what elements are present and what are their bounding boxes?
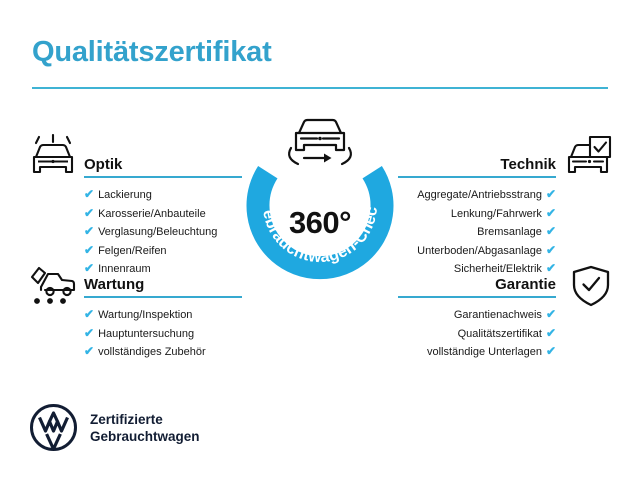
list-item: ✔Lackierung bbox=[84, 186, 217, 205]
list-item-label: Garantienachweis bbox=[454, 309, 542, 321]
list-item-label: Qualitätszertifikat bbox=[458, 328, 542, 340]
brand-text: Zertifizierte Gebrauchtwagen bbox=[90, 411, 200, 445]
shield-check-icon bbox=[568, 264, 614, 315]
section-technik-head: Technik bbox=[398, 148, 556, 174]
section-optik: Optik ✔Lackierung ✔Karosserie/Anbauteile… bbox=[84, 148, 242, 174]
check-icon: ✔ bbox=[546, 344, 556, 358]
check-icon: ✔ bbox=[546, 243, 556, 257]
section-optik-divider bbox=[84, 176, 242, 178]
list-item: Qualitätszertifikat✔ bbox=[427, 325, 556, 344]
list-item: Aggregate/Antriebsstrang✔ bbox=[417, 186, 556, 205]
list-item-label: Felgen/Reifen bbox=[98, 245, 167, 257]
list-item: ✔Verglasung/Beleuchtung bbox=[84, 223, 217, 242]
section-optik-title: Optik bbox=[84, 156, 122, 173]
car-shine-icon bbox=[28, 134, 78, 185]
section-garantie-title: Garantie bbox=[495, 276, 556, 293]
badge-360-gebrauchtwagen-check: Gebrauchtwagen-Check 360° bbox=[243, 128, 397, 282]
list-item: ✔Wartung/Inspektion bbox=[84, 306, 206, 325]
list-item: ✔Hauptuntersuchung bbox=[84, 325, 206, 344]
car-checkbox-icon bbox=[564, 134, 614, 185]
list-item-label: Verglasung/Beleuchtung bbox=[98, 226, 217, 238]
car-service-pen-icon bbox=[28, 264, 78, 315]
section-wartung-title: Wartung bbox=[84, 276, 144, 293]
check-icon: ✔ bbox=[546, 326, 556, 340]
section-garantie: Garantie Garantienachweis✔ Qualitätszert… bbox=[398, 268, 556, 294]
car-rotate-icon bbox=[277, 116, 363, 183]
check-icon: ✔ bbox=[84, 206, 94, 220]
volkswagen-logo bbox=[30, 404, 77, 451]
check-icon: ✔ bbox=[84, 326, 94, 340]
brand-line-1: Zertifizierte bbox=[90, 411, 200, 428]
badge-number: 360° bbox=[243, 207, 397, 238]
list-item-label: vollständiges Zubehör bbox=[98, 346, 206, 358]
list-item: ✔Karosserie/Anbauteile bbox=[84, 205, 217, 224]
list-item: Lenkung/Fahrwerk✔ bbox=[417, 205, 556, 224]
qualitaetszertifikat-page: Qualitätszertifikat Optik ✔Lackierung ✔K… bbox=[0, 0, 640, 480]
section-optik-head: Optik bbox=[84, 148, 242, 174]
check-icon: ✔ bbox=[84, 224, 94, 238]
section-technik-title: Technik bbox=[500, 156, 556, 173]
brand-lockup: Zertifizierte Gebrauchtwagen bbox=[30, 404, 200, 451]
section-optik-list: ✔Lackierung ✔Karosserie/Anbauteile ✔Verg… bbox=[84, 186, 217, 279]
section-technik: Technik Aggregate/Antriebsstrang✔ Lenkun… bbox=[398, 148, 556, 174]
check-icon: ✔ bbox=[546, 187, 556, 201]
check-icon: ✔ bbox=[84, 307, 94, 321]
brand-line-2: Gebrauchtwagen bbox=[90, 428, 200, 445]
list-item-label: Lenkung/Fahrwerk bbox=[451, 208, 542, 220]
check-icon: ✔ bbox=[546, 307, 556, 321]
list-item: ✔Felgen/Reifen bbox=[84, 242, 217, 261]
header-divider bbox=[32, 87, 608, 89]
section-wartung: Wartung ✔Wartung/Inspektion ✔Hauptunters… bbox=[84, 268, 242, 294]
page-title: Qualitätszertifikat bbox=[32, 36, 272, 69]
list-item-label: vollständige Unterlagen bbox=[427, 346, 542, 358]
section-wartung-divider bbox=[84, 296, 242, 298]
check-icon: ✔ bbox=[546, 206, 556, 220]
section-garantie-divider bbox=[398, 296, 556, 298]
section-technik-list: Aggregate/Antriebsstrang✔ Lenkung/Fahrwe… bbox=[417, 186, 556, 279]
section-wartung-list: ✔Wartung/Inspektion ✔Hauptuntersuchung ✔… bbox=[84, 306, 206, 362]
check-icon: ✔ bbox=[546, 224, 556, 238]
section-garantie-head: Garantie bbox=[398, 268, 556, 294]
list-item-label: Unterboden/Abgasanlage bbox=[417, 245, 542, 257]
list-item: ✔vollständiges Zubehör bbox=[84, 343, 206, 362]
list-item-label: Lackierung bbox=[98, 189, 152, 201]
section-garantie-list: Garantienachweis✔ Qualitätszertifikat✔ v… bbox=[427, 306, 556, 362]
check-icon: ✔ bbox=[84, 243, 94, 257]
check-icon: ✔ bbox=[84, 187, 94, 201]
list-item: Bremsanlage✔ bbox=[417, 223, 556, 242]
list-item-label: Karosserie/Anbauteile bbox=[98, 208, 206, 220]
check-icon: ✔ bbox=[84, 344, 94, 358]
section-wartung-head: Wartung bbox=[84, 268, 242, 294]
list-item-label: Bremsanlage bbox=[477, 226, 542, 238]
section-technik-divider bbox=[398, 176, 556, 178]
list-item: Unterboden/Abgasanlage✔ bbox=[417, 242, 556, 261]
list-item-label: Wartung/Inspektion bbox=[98, 309, 192, 321]
list-item-label: Hauptuntersuchung bbox=[98, 328, 194, 340]
list-item-label: Aggregate/Antriebsstrang bbox=[417, 189, 542, 201]
list-item: Garantienachweis✔ bbox=[427, 306, 556, 325]
list-item: vollständige Unterlagen✔ bbox=[427, 343, 556, 362]
